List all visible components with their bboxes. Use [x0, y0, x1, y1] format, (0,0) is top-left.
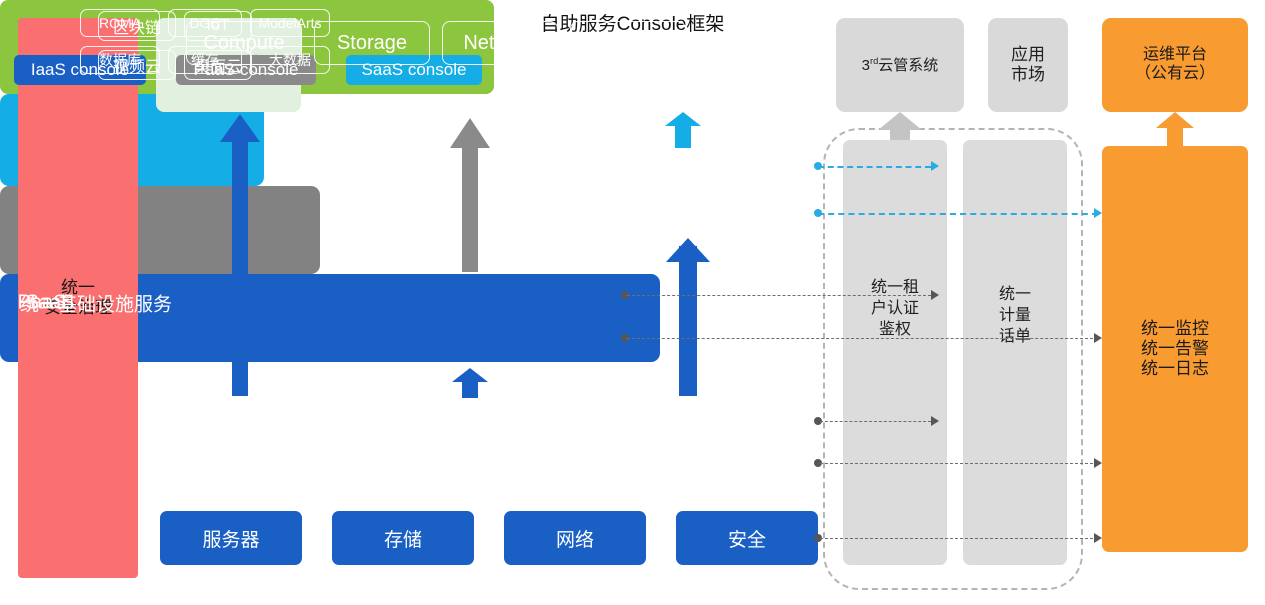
ops-platform-box: 运维平台 （公有云）	[1102, 18, 1248, 112]
connector-infra-to-ops	[820, 463, 1098, 464]
ops-platform-label: 运维平台 （公有云）	[1135, 46, 1215, 84]
architecture-diagram: 统一 安全治理 API网关 自助服务Console框架 IaaS console…	[0, 0, 1265, 605]
cyan-connector-saas-to-auth	[818, 166, 931, 168]
ops-platform-services-label: 统一监控 统一告警 统一日志	[1141, 319, 1209, 379]
shared-service-label-auth: 统一租 户认证 鉴权	[843, 278, 947, 340]
cyan-arrowhead-ops	[1094, 208, 1102, 218]
third-party-cloud-mgmt-label: 3rd云管系统	[862, 56, 939, 75]
connector-paas-to-ops	[627, 338, 1098, 339]
arrowhead-hardware-to-ops	[1094, 533, 1102, 543]
shared-service-column-metering	[963, 140, 1067, 565]
third-party-cloud-mgmt-box: 3rd云管系统	[836, 18, 964, 112]
connector-paas-to-auth	[627, 295, 931, 296]
third-party-prefix: 3	[862, 57, 870, 74]
arrow-infra-to-saas	[666, 238, 710, 396]
connector-infra-to-metering	[820, 421, 931, 422]
arrowhead-paas-to-ops	[1094, 333, 1102, 343]
arrowhead-infra-to-ops	[1094, 458, 1102, 468]
arrow-saas-to-console	[665, 112, 701, 148]
paas-chip-database[interactable]: 数据库	[80, 46, 160, 74]
app-market-box: 应用 市场	[988, 18, 1068, 112]
third-party-suffix: 云管系统	[878, 57, 938, 74]
infra-chip-cce[interactable]: CCE	[570, 21, 686, 65]
ops-platform-services-panel: 统一监控 统一告警 统一日志	[1102, 146, 1248, 552]
arrow-ops-services-to-ops-platform	[1156, 112, 1194, 148]
shared-service-column-auth	[843, 140, 947, 565]
arrowhead-paas-to-auth	[931, 290, 939, 300]
hardware-box-server[interactable]: 服务器	[160, 511, 302, 565]
cyan-connector-dot-2	[814, 209, 822, 217]
cyan-connector-dot-1	[814, 162, 822, 170]
hardware-box-network[interactable]: 网络	[504, 511, 646, 565]
cyan-arrowhead-auth	[931, 161, 939, 171]
hardware-box-storage[interactable]: 存储	[332, 511, 474, 565]
arrow-paas-to-console	[450, 118, 490, 272]
app-market-label: 应用 市场	[1011, 45, 1045, 85]
infra-chip-network[interactable]: Network	[442, 21, 558, 65]
infra-chip-compute[interactable]: Compute	[186, 21, 302, 65]
arrow-infra-to-paas	[452, 368, 488, 398]
infra-chip-storage[interactable]: Storage	[314, 21, 430, 65]
arrowhead-infra-to-metering	[931, 416, 939, 426]
infrastructure-label: 统一基础设施服务	[12, 289, 180, 316]
paas-chip-roma[interactable]: ROMA	[80, 9, 160, 37]
connector-hardware-to-ops	[820, 538, 1098, 539]
cyan-connector-saas-to-ops	[818, 213, 1098, 215]
hardware-box-security[interactable]: 安全	[676, 511, 818, 565]
